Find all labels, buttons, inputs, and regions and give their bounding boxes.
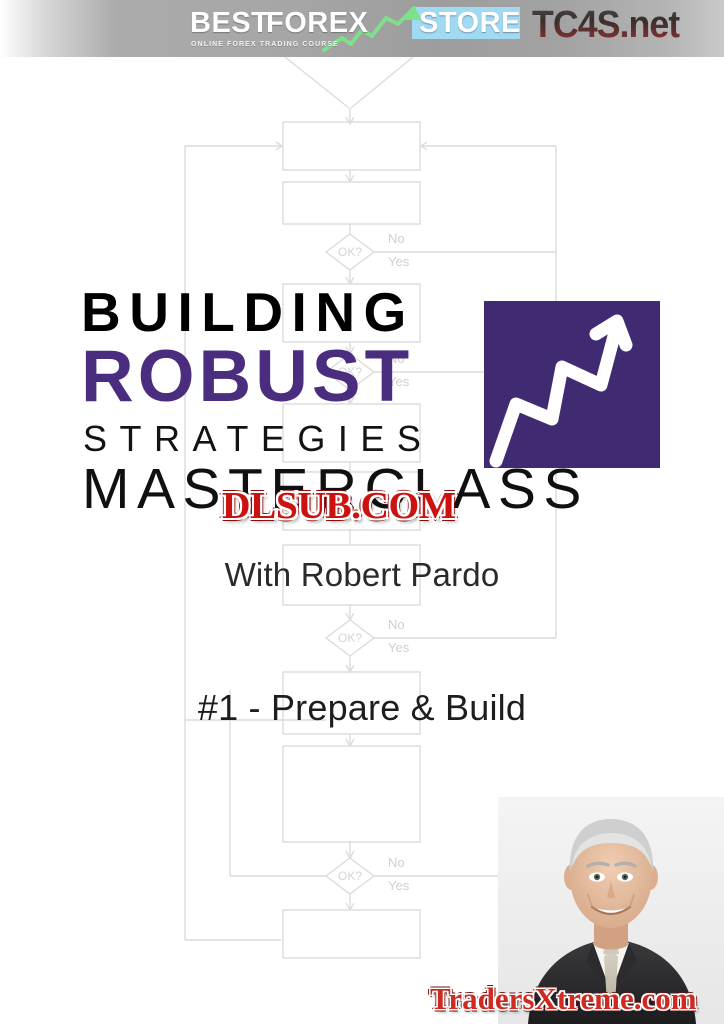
decision-label: OK? [338,869,362,883]
title-line-building: BUILDING [81,284,415,340]
logo-word-forex: FOREX [266,8,368,38]
decision-label: OK? [338,631,362,645]
title-line-robust: ROBUST [81,339,413,415]
dlsub-watermark: DLSUB.COM [222,485,456,527]
branch-yes-label: Yes [388,254,410,269]
logo-tagline: ONLINE FOREX TRADING COURSE [191,41,339,48]
purple-logo-square [484,301,660,468]
tradersxtreme-watermark: TradersXtreme.com [430,981,697,1017]
branch-yes-label: Yes [388,640,410,655]
tc4s-site-badge: TC4S.net [532,3,679,47]
title-line-strategies: STRATEGIES [83,419,433,459]
best-forex-store-logo: BEST FOREX STORE ONLINE FOREX TRADING CO… [190,6,520,52]
branch-yes-label: Yes [388,878,410,893]
slide-canvas: OK? No Yes OK? No Yes OK? No Yes OK? No … [0,0,724,1024]
presenter-credit: With Robert Pardo [0,555,724,595]
flowchart-decision-3: OK? No Yes [338,617,410,655]
module-title: #1 - Prepare & Build [0,686,724,730]
branch-no-label: No [388,855,405,870]
logo-word-best: BEST [190,8,269,38]
growth-arrow-icon [484,301,660,468]
flowchart-decision-1: OK? No Yes [338,231,410,269]
top-banner: BEST FOREX STORE ONLINE FOREX TRADING CO… [0,0,724,57]
decision-label: OK? [338,245,362,259]
branch-no-label: No [388,231,405,246]
logo-word-store: STORE [419,8,521,38]
flowchart-decision-4: OK? No Yes [338,855,410,893]
branch-no-label: No [388,617,405,632]
